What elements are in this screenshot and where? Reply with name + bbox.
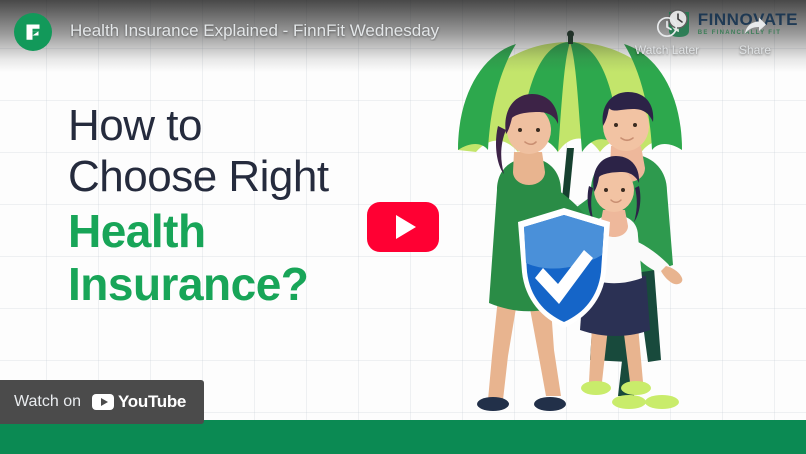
share-button[interactable]: Share — [714, 14, 796, 57]
watch-on-label: Watch on — [14, 393, 81, 411]
share-label: Share — [739, 43, 771, 57]
thumbnail-bottom-bar — [0, 420, 806, 454]
youtube-wordmark: YouTube — [118, 392, 186, 412]
thumbnail-headline: How to Choose Right Health Insurance? — [68, 104, 329, 308]
headline-line-4: Insurance? — [68, 261, 329, 308]
channel-avatar[interactable] — [14, 13, 52, 51]
family-umbrella-illustration — [440, 30, 700, 420]
watch-on-youtube-button[interactable]: Watch on YouTube — [0, 380, 204, 424]
youtube-play-icon — [92, 394, 114, 410]
youtube-logo: YouTube — [92, 392, 186, 412]
headline-line-1: How to — [68, 104, 329, 149]
play-button[interactable] — [367, 202, 439, 252]
watch-later-button[interactable]: Watch Later — [626, 14, 708, 57]
play-triangle-icon — [396, 215, 416, 239]
share-arrow-icon — [742, 14, 768, 40]
channel-avatar-f-logo-icon — [23, 22, 43, 42]
clock-icon — [655, 14, 679, 40]
youtube-embed-player[interactable]: How to Choose Right Health Insurance? — [0, 0, 806, 454]
headline-line-2: Choose Right — [68, 155, 329, 200]
watch-later-label: Watch Later — [635, 43, 699, 57]
headline-line-3: Health — [68, 208, 329, 255]
video-title[interactable]: Health Insurance Explained - FinnFit Wed… — [70, 21, 626, 41]
player-action-buttons: Watch Later Share — [626, 14, 796, 57]
player-top-bar: Health Insurance Explained - FinnFit Wed… — [0, 0, 806, 66]
